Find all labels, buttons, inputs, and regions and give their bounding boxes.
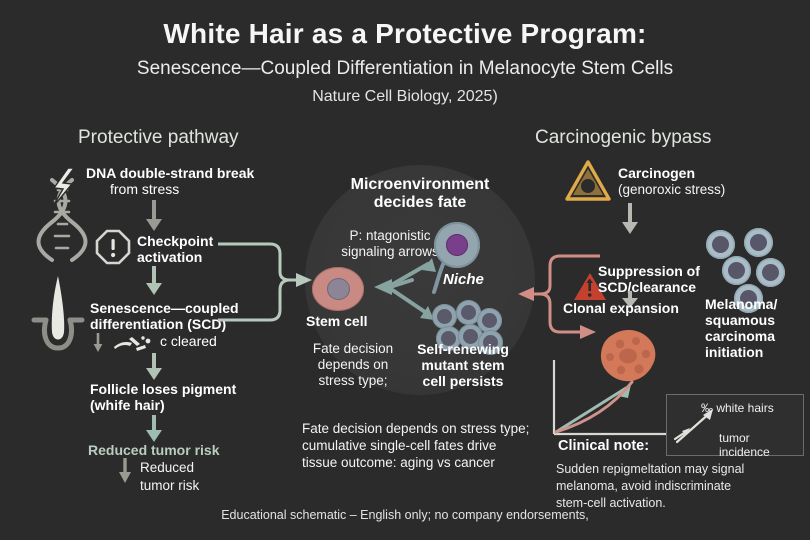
summary-line2: cumulative single-cell fates drive (302, 438, 496, 454)
melanoma-label-line3: carcinoma (705, 328, 775, 344)
trend-chart (548, 358, 676, 450)
tumor-cell (706, 230, 735, 259)
suppression-label-line1: Suppression of (598, 263, 700, 279)
fate-note-line2: depends on (306, 357, 400, 373)
chart-series-white-hairs (556, 388, 626, 432)
clinical-note-heading: Clinical note: (558, 438, 649, 455)
fate-note-line3: stress type; (306, 373, 400, 389)
hair-follicle-icon (20, 268, 96, 352)
step-dna-break-line2: from stress (110, 181, 179, 197)
mutant-label-line3: cell persists (405, 373, 521, 389)
arrow-down-3 (144, 353, 164, 381)
stem-cell-graphic (312, 267, 364, 311)
left-column-heading: Protective pathway (78, 127, 239, 149)
melanoma-label-line2: squamous (705, 312, 775, 328)
fate-note-line1: Fate decision (306, 341, 400, 357)
melanoma-label-line4: initiation (705, 344, 763, 360)
suppression-label-line2: SCD/clearance (598, 279, 696, 295)
mutant-label-line1: Self-renewing (405, 341, 521, 357)
step-dna-break-line1: DNA double-strand break (86, 165, 254, 181)
tumor-cell (756, 258, 785, 287)
step-checkpoint-line1: Checkpoint (137, 233, 213, 249)
carcinogen-warning-triangle-icon (565, 160, 611, 202)
arrow-down-4 (144, 415, 164, 443)
center-title-line1: Microenvironment (315, 176, 525, 194)
step-checkpoint-line2: activation (137, 249, 202, 265)
arrow-down-small-cleared (92, 333, 104, 353)
step-reduced-tumor-risk-repeat-line2: tumor risk (140, 478, 199, 494)
arrow-down-2 (144, 266, 164, 296)
right-column-heading: Carcinogenic bypass (535, 127, 711, 149)
stem-cell-label: Stem cell (306, 313, 367, 329)
cleared-debris-icon (112, 335, 154, 353)
page-subtitle: Senescence—Coupled Differentiation in Me… (0, 58, 810, 80)
step-follicle-pigment-line1: Follicle loses pigment (90, 381, 236, 397)
footer-disclaimer: Educational schematic – English only; no… (0, 508, 810, 522)
mutant-label-line2: mutant stem (405, 357, 521, 373)
stem-cell-nucleus (327, 278, 350, 300)
clinical-note-line1: Sudden repigmeltation may signal (556, 461, 744, 477)
center-title-line2: decides fate (315, 194, 525, 212)
page-title: White Hair as a Protective Program: (0, 18, 810, 50)
step-scd-line2: differentiation (SCD) (90, 316, 226, 332)
arrow-down-5 (117, 458, 133, 484)
step-reduced-tumor-risk: Reduced tumor risk (88, 442, 219, 458)
arrow-down-1 (144, 200, 164, 232)
step-cleared-label: c cleared (160, 333, 217, 349)
tumor-cell (744, 228, 773, 257)
step-scd-line1: Senescence—coupled (90, 300, 239, 316)
clonal-expansion-label: Clonal expansion (563, 300, 679, 316)
center-title: Microenvironment decides fate (315, 176, 525, 212)
step-follicle-pigment-line2: (whife hair) (90, 397, 165, 413)
clinical-note-line2: melanoma, avoid indiscriminate (556, 478, 731, 494)
legend-item-white-hairs: ‰ white hairs (701, 401, 774, 415)
carcinogen-label-line2: (genoroxic stress) (618, 182, 725, 198)
infographic-canvas: White Hair as a Protective Program: Sene… (0, 0, 810, 540)
summary-line3: tissue outcome: aging vs cancer (302, 455, 495, 471)
left-to-center-connector (218, 238, 318, 328)
mutant-cell (432, 304, 457, 329)
melanoma-label-line1: Melanoma/ (705, 296, 777, 312)
arrow-down-r1 (620, 203, 640, 235)
summary-line1: Fate decision depends on stress type; (302, 421, 529, 437)
octagon-alert-icon (96, 230, 130, 264)
tumor-cell (722, 256, 751, 285)
chart-legend-box: ‰ white hairs tumor incidence (666, 394, 804, 456)
carcinogen-label-line1: Carcinogen (618, 165, 695, 181)
niche-cell-nucleus (446, 234, 468, 256)
page-source-citation: Nature Cell Biology, 2025) (0, 88, 810, 106)
niche-label: Niche (443, 271, 484, 288)
step-reduced-tumor-risk-repeat-line1: Reduced (140, 460, 194, 476)
dna-helix-icon (38, 168, 98, 263)
legend-item-tumor-incidence: tumor incidence (719, 431, 803, 459)
